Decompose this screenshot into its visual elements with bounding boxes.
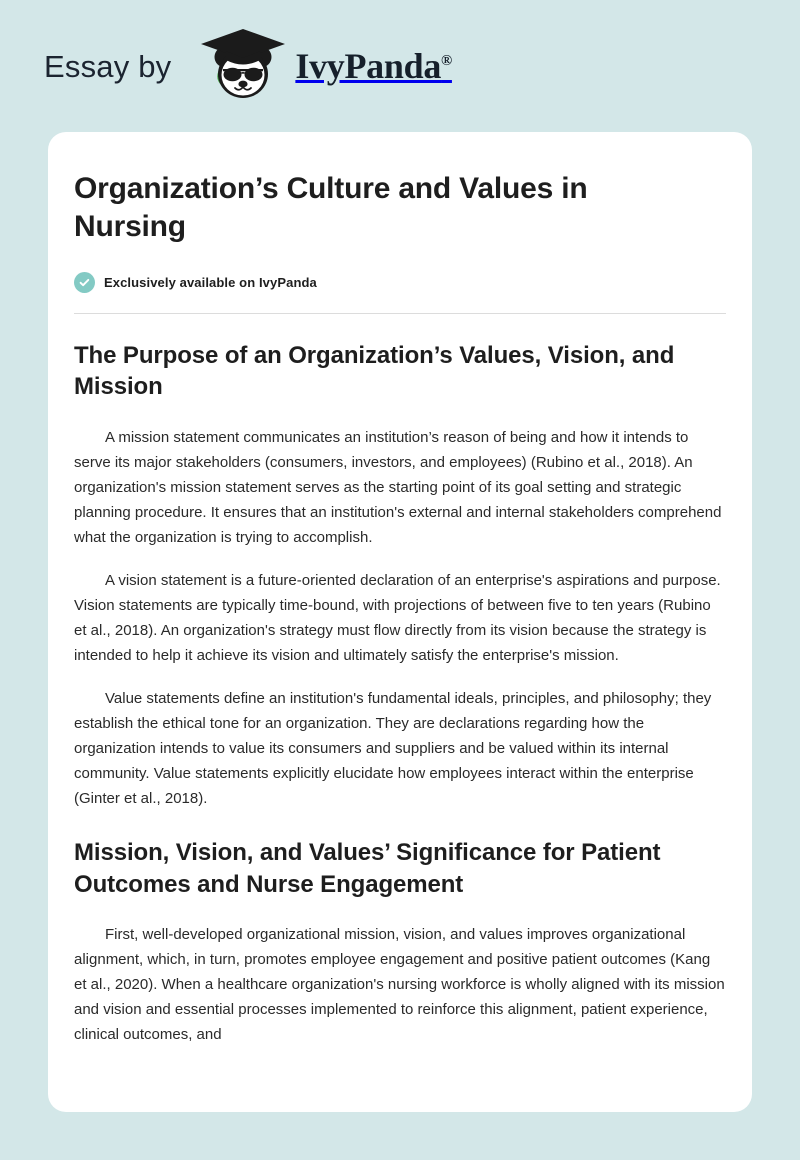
registered-trademark-icon: ® (441, 53, 452, 69)
page-title: Organization’s Culture and Values in Nur… (74, 170, 674, 246)
section-heading-purpose: The Purpose of an Organization’s Values,… (74, 340, 694, 403)
essay-card: Organization’s Culture and Values in Nur… (48, 132, 752, 1112)
paragraph-vision-statement: A vision statement is a future-oriented … (74, 568, 726, 668)
paragraph-organizational-alignment: First, well-developed organizational mis… (74, 922, 726, 1047)
panda-graduate-logo-icon (193, 27, 295, 105)
status-badge-label: Exclusively available on IvyPanda (104, 275, 317, 290)
check-circle-icon (74, 272, 95, 293)
section-heading-significance: Mission, Vision, and Values’ Significanc… (74, 837, 694, 900)
essay-content: Organization’s Culture and Values in Nur… (48, 132, 752, 1047)
paragraph-value-statement: Value statements define an institution's… (74, 686, 726, 811)
ivypanda-brand-link[interactable]: IvyPanda® (193, 27, 452, 105)
paragraph-mission-statement: A mission statement communicates an inst… (74, 425, 726, 550)
ivypanda-wordmark: IvyPanda® (295, 48, 452, 84)
brand-name-text: IvyPanda (295, 46, 441, 86)
header-divider (74, 313, 726, 314)
essay-by-label: Essay by (44, 51, 171, 82)
status-badge: Exclusively available on IvyPanda (74, 272, 726, 293)
page-header: Essay by (0, 0, 800, 132)
